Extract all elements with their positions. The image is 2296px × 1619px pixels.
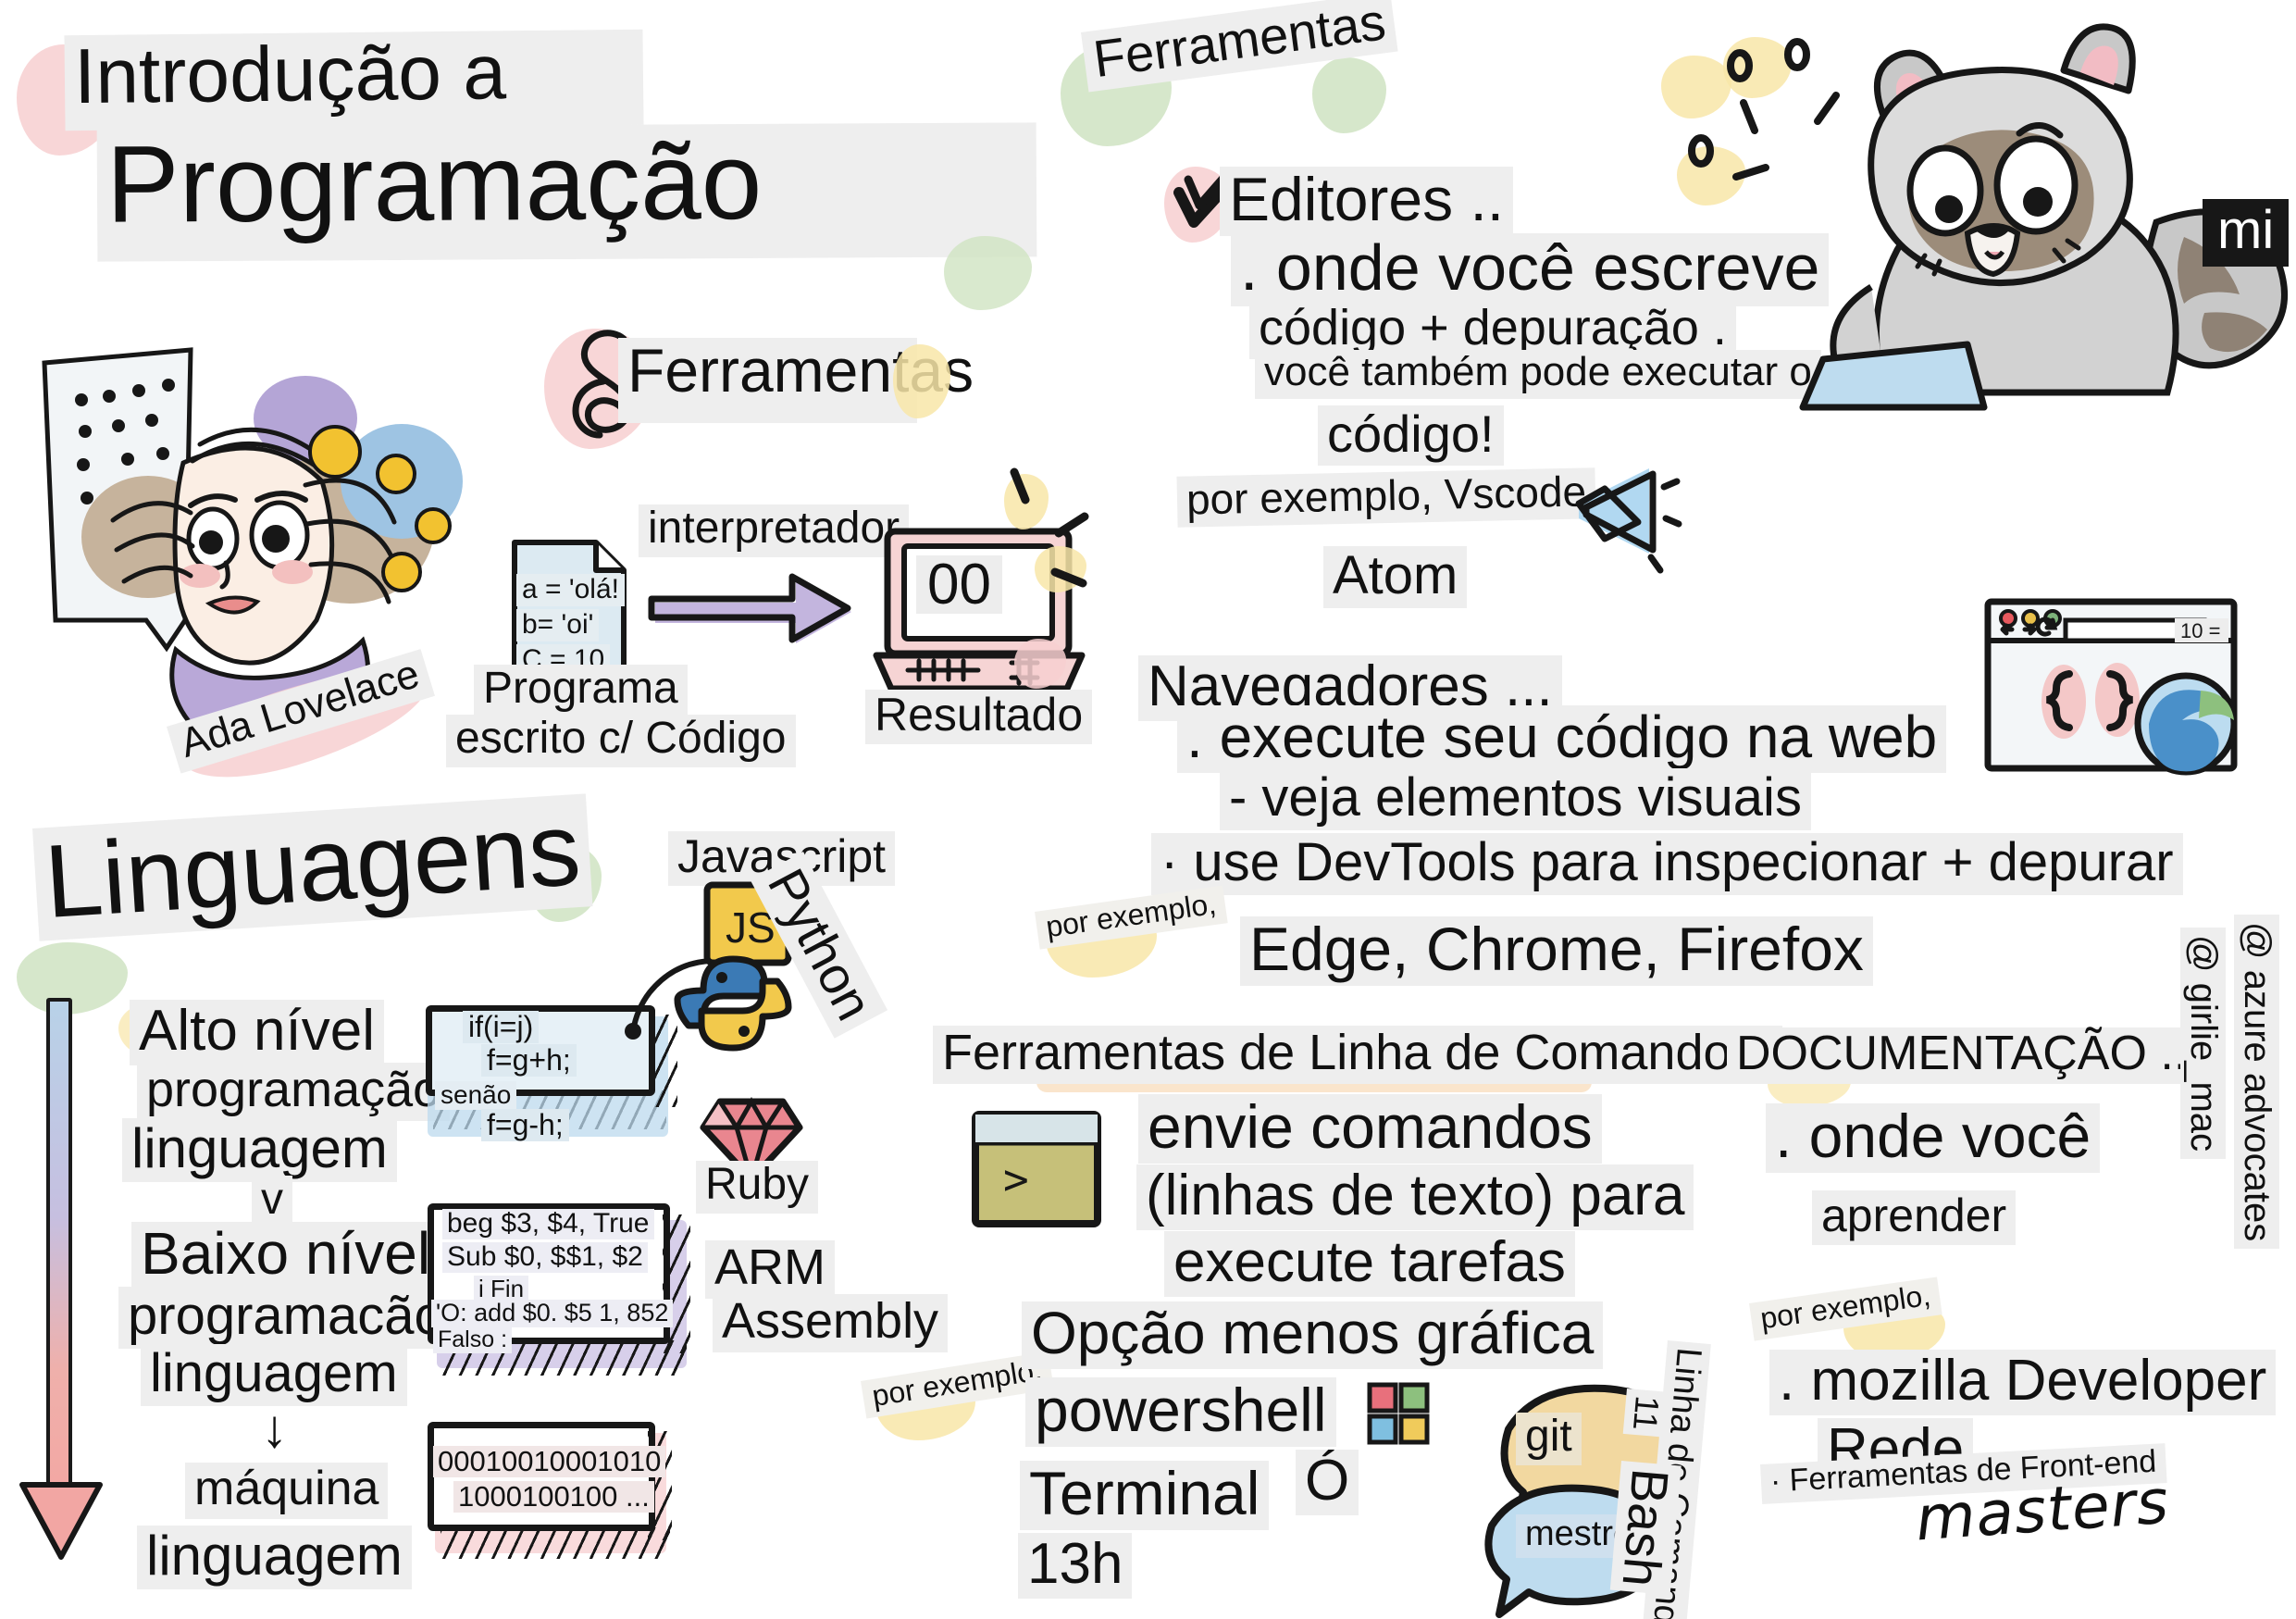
browser-window-icon: 10 = xyxy=(1980,592,2249,787)
baixo-nivel-sub2: linguagem xyxy=(141,1344,407,1406)
binary-code-line-1: 00010010001010 xyxy=(433,1446,665,1477)
result-screen-text: 00 xyxy=(916,555,1002,614)
asm-code-line-1: beg $3, $4, True xyxy=(442,1209,654,1239)
vscode-icon xyxy=(1564,454,1684,574)
result-caption: Resultado xyxy=(865,690,1092,744)
cli-example-powershell: powershell xyxy=(1025,1377,1336,1447)
docs-heading: DOCUMENTAÇÃO ... xyxy=(1727,1027,2210,1084)
baixo-nivel-sub1: programacão xyxy=(118,1287,453,1349)
mascot-sticker-text: mi xyxy=(2203,199,2289,267)
program-caption-line1: Programa xyxy=(474,665,688,717)
browsers-line2: - veja elementos visuais xyxy=(1220,768,1811,830)
asm-code-line-5: Falso : xyxy=(433,1327,512,1353)
sparkles-icon xyxy=(1666,32,1888,218)
editors-example-vscode: por exemplo, Vscode xyxy=(1176,467,1595,527)
languages-title-blob xyxy=(17,942,128,1015)
program-code-line-2: b= 'oi' xyxy=(516,609,599,641)
docs-masters-handwritten: masters xyxy=(1905,1468,2181,1557)
cli-example-o: Ó xyxy=(1296,1450,1359,1515)
machine-label: máquina xyxy=(185,1463,388,1519)
languages-section-title: Linguagens xyxy=(32,793,593,941)
sparkles-icon xyxy=(999,463,1101,611)
editors-line4: código! xyxy=(1318,405,1504,466)
level-down-arrow: ↓ xyxy=(252,1400,297,1462)
asm-code-line-2: Sub $0, $$1, $2 xyxy=(442,1242,648,1273)
editors-line1: . onde você escreve xyxy=(1231,233,1829,306)
browsers-examples: Edge, Chrome, Firefox xyxy=(1240,916,1873,986)
interpreter-label: interpretador xyxy=(639,504,909,557)
svg-text:>: > xyxy=(1003,1154,1029,1204)
docs-line1: . onde você xyxy=(1766,1103,2100,1173)
tools-label-left: Ferramentas xyxy=(618,338,917,423)
editors-example-atom: Atom xyxy=(1323,546,1467,608)
cli-line2: (linhas de texto) para xyxy=(1136,1164,1694,1230)
editors-line3: você também pode executar o xyxy=(1255,350,1821,399)
docs-example-mdn: . mozilla Developer xyxy=(1769,1350,2276,1415)
python-logo-icon xyxy=(672,946,794,1063)
browsers-line1: . execute seu código na web xyxy=(1177,705,1946,773)
abstraction-gradient-arrow xyxy=(46,998,72,1516)
cli-sidebar-number: 11 xyxy=(1623,1389,1669,1438)
cli-line3: execute tarefas xyxy=(1164,1231,1575,1297)
abstraction-arrow-head-icon xyxy=(17,1479,105,1563)
browsers-line3: · use DevTools para inspecionar + depura… xyxy=(1151,833,2183,895)
program-caption-line2: escrito c/ Código xyxy=(446,715,796,767)
high-code-line-3: senão xyxy=(435,1081,516,1110)
cli-example-13h: 13h xyxy=(1018,1533,1132,1599)
alto-nivel-label: Alto nível xyxy=(130,1000,384,1065)
alto-nivel-sub2: linguagem xyxy=(122,1118,397,1182)
high-code-line-2: f=g+h; xyxy=(481,1044,577,1077)
tools-label-left-blob xyxy=(893,344,950,418)
tools-tag-blob-2 xyxy=(1312,57,1386,133)
asm-card-side-hatch xyxy=(663,1214,690,1353)
alto-nivel-sub1: programação xyxy=(137,1063,450,1121)
asm-label-line1: ARM xyxy=(705,1240,835,1299)
program-code-line-1: a = 'olá! xyxy=(516,574,625,606)
terminal-icon: > xyxy=(964,1102,1112,1240)
lang-ruby-label: Ruby xyxy=(696,1161,818,1214)
cli-heading: Ferramentas de Linha de Comando .. xyxy=(933,1026,1782,1084)
credit-handle-girliemac: @ girlie_mac xyxy=(2180,928,2226,1159)
cli-sidebar-label2: Bash xyxy=(1610,1461,1682,1595)
cli-bubble-git: git xyxy=(1516,1413,1582,1465)
title-accent-blob xyxy=(944,236,1032,310)
docs-line2: aprender xyxy=(1812,1190,2016,1245)
cli-line1: envie comandos xyxy=(1138,1094,1602,1164)
credit-handle-azure: @ azure advocates xyxy=(2234,915,2279,1249)
cli-example-terminal: Terminal xyxy=(1020,1461,1269,1530)
high-code-line-1: if(i=j) xyxy=(463,1011,539,1043)
asm-label-line2: Assembly xyxy=(713,1294,948,1352)
cli-line4: Opção menos gráfica xyxy=(1022,1301,1603,1369)
asm-code-line-4: 'O: add $0. $5 1, 852 xyxy=(431,1300,673,1327)
svg-text:10 =: 10 = xyxy=(2180,619,2220,642)
high-code-line-4: f=g-h; xyxy=(481,1109,569,1141)
sketchnote-canvas: Introdução a Programação Ferramentas xyxy=(0,0,2296,1619)
machine-sub: linguagem xyxy=(137,1526,412,1589)
page-title-line2: Programação xyxy=(97,122,1037,261)
binary-card-hatch xyxy=(441,1527,670,1559)
binary-code-line-2: 1000100100 ... xyxy=(453,1481,654,1513)
windows-logo-icon xyxy=(1362,1377,1436,1451)
editors-heading: Editores .. xyxy=(1220,167,1513,236)
baixo-nivel-label: Baixo nível xyxy=(131,1222,440,1289)
page-title-line1: Introdução a xyxy=(64,30,643,131)
right-arrow-icon xyxy=(648,560,861,662)
